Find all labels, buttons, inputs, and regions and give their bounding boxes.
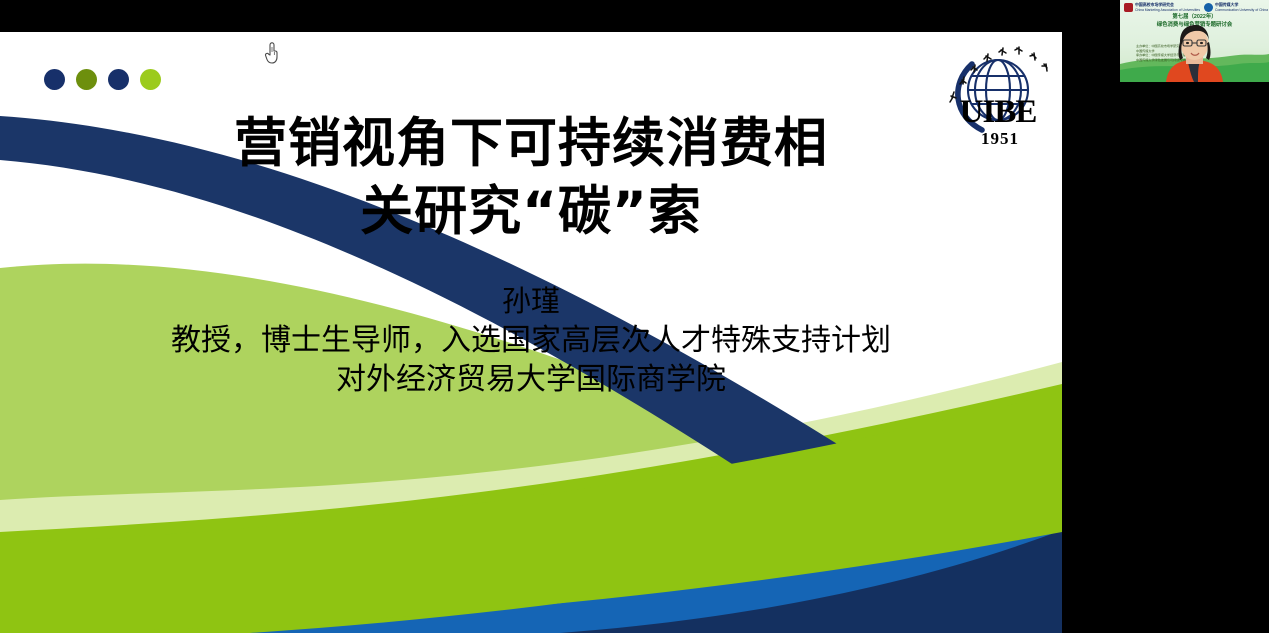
dot-navy-1	[44, 69, 65, 90]
decor-dot-row	[44, 69, 161, 90]
slide-title: 营销视角下可持续消费相 关研究“碳”索	[0, 110, 1062, 246]
uibe-acronym: UIBE	[960, 94, 1037, 130]
hand-pointer-cursor	[262, 40, 284, 66]
presenter-video-panel[interactable]: 中国高校市场学研究会 China Marketing Association o…	[1120, 0, 1269, 82]
uibe-year: 1951	[981, 129, 1019, 148]
screen-root: UIBE 1951 营销视角下可持续消费相 关研究“碳”索 孙瑾 教授，博士生导…	[0, 0, 1269, 633]
uibe-logo: UIBE 1951	[938, 40, 1058, 158]
presenter-name: 孙瑾	[0, 282, 1062, 321]
presentation-slide[interactable]: UIBE 1951 营销视角下可持续消费相 关研究“碳”索 孙瑾 教授，博士生导…	[0, 32, 1062, 633]
video-speaker-figure	[1120, 0, 1269, 82]
slide-title-line-1: 营销视角下可持续消费相	[0, 110, 1062, 178]
dot-green	[140, 69, 161, 90]
slide-title-line-2: 关研究“碳”索	[0, 178, 1062, 246]
dot-navy-2	[108, 69, 129, 90]
presenter-credentials: 教授，博士生导师，入选国家高层次人才特殊支持计划	[0, 321, 1062, 361]
dot-olive	[76, 69, 97, 90]
presenter-info: 孙瑾 教授，博士生导师，入选国家高层次人才特殊支持计划 对外经济贸易大学国际商学…	[0, 282, 1062, 400]
presenter-affiliation: 对外经济贸易大学国际商学院	[0, 360, 1062, 400]
